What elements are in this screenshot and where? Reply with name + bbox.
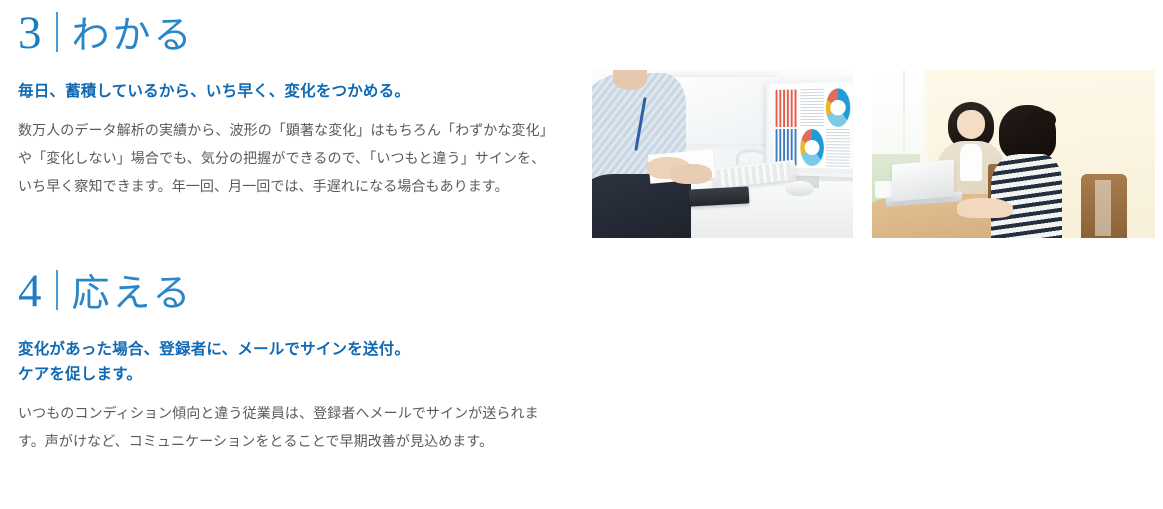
section-3-body-line-1: 数万人のデータ解析の実績から、波形の「顕著な変化」はもちろん「わずかな変化」 [18,117,588,145]
section-4-subheading-line-1: 変化があった場合、登録者に、メールでサインを送付。 [18,337,588,362]
heading-divider [56,270,58,310]
section-step-3: 3 わかる 毎日、蓄積しているから、いち早く、変化をつかめる。 数万人のデータ解… [0,0,1163,258]
section-4-heading: 4 応える [18,266,588,315]
heading-divider [56,12,58,52]
section-4-subheading: 変化があった場合、登録者に、メールでサインを送付。 ケアを促します。 [18,337,588,387]
section-3-heading: 3 わかる [18,8,588,57]
section-step-4: 4 応える 変化があった場合、登録者に、メールでサインを送付。 ケアを促します。… [0,258,1163,509]
section-4-subheading-line-2: ケアを促します。 [18,362,588,387]
section-3-title: わかる [72,16,195,54]
section-4-title: 応える [72,274,194,312]
section-4-body: いつものコンディション傾向と違う従業員は、登録者へメールでサインが送られま す。… [18,400,588,456]
page-root: 3 わかる 毎日、蓄積しているから、いち早く、変化をつかめる。 数万人のデータ解… [0,0,1163,509]
section-3-subheading-line-1: 毎日、蓄積しているから、いち早く、変化をつかめる。 [18,79,588,104]
section-4-body-line-1: いつものコンディション傾向と違う従業員は、登録者へメールでサインが送られま [18,400,588,428]
section-3-body: 数万人のデータ解析の実績から、波形の「顕著な変化」はもちろん「わずかな変化」 や… [18,117,588,201]
section-4-text-column: 4 応える 変化があった場合、登録者に、メールでサインを送付。 ケアを促します。… [18,266,588,456]
section-3-body-line-2: や「変化しない」場合でも、気分の把握ができるので、「いつもと違う」サインを、 [18,145,588,173]
section-3-number: 3 [18,10,42,57]
section-3-body-line-3: いち早く察知できます。年一回、月一回では、手遅れになる場合もあります。 [18,173,588,201]
section-4-body-line-2: す。声がけなど、コミュニケーションをとることで早期改善が見込めます。 [18,428,588,456]
section-4-number: 4 [18,268,42,315]
section-3-text-column: 3 わかる 毎日、蓄積しているから、いち早く、変化をつかめる。 数万人のデータ解… [18,8,588,201]
photo-office-desk-analytics [592,70,853,238]
photo-counseling-two-women [872,70,1155,238]
section-3-subheading: 毎日、蓄積しているから、いち早く、変化をつかめる。 [18,79,588,104]
